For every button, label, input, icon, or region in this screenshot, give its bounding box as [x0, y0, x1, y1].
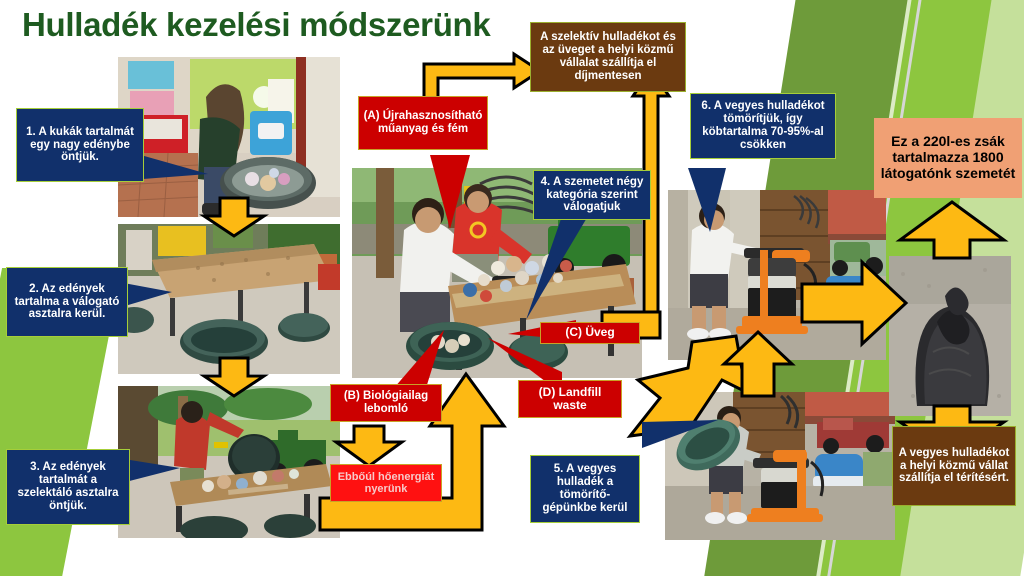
- callout-step-2[interactable]: 2. Az edények tartalma a válogató asztal…: [6, 267, 128, 337]
- pointer-step6-to-photo: [686, 168, 746, 234]
- callout-step-4[interactable]: 4. A szemetet négy kategória szerint vál…: [533, 170, 651, 220]
- callout-category-d-text: (D) Landfill waste: [523, 386, 617, 413]
- pointer-step4-to-photo: [524, 216, 590, 322]
- callout-step-3-text: 3. Az edények tartalmát a szelektáló asz…: [12, 461, 124, 513]
- callout-step-1-text: 1. A kukák tartalmát egy nagy edénybe ön…: [22, 126, 138, 165]
- callout-step-5-text: 5. A vegyes hulladék a tömörítő-gépünkbe…: [535, 463, 635, 515]
- slide-canvas: Hulladék kezelési módszerünk: [0, 0, 1024, 576]
- arrow-down-step1-to-step2: [198, 196, 270, 238]
- callout-bag-capacity-text: Ez a 220l-es zsák tartalmazza 1800 látog…: [879, 134, 1017, 181]
- pointer-a-to-photo: [430, 155, 490, 231]
- callout-mixed-transport[interactable]: A vegyes hulladékot a helyi közmű vállat…: [892, 426, 1016, 506]
- callout-step-6-text: 6. A vegyes hulladékot tömörítjük, így k…: [696, 100, 830, 152]
- arrow-up-bag-to-capacity: [896, 200, 1008, 260]
- callout-step-5[interactable]: 5. A vegyes hulladék a tömörítő-gépünkbe…: [530, 455, 640, 523]
- photo-woman-emptying-bin: [118, 57, 340, 217]
- callout-mixed-transport-text: A vegyes hulladékot a helyi közmű vállat…: [898, 447, 1010, 486]
- callout-category-b-text: (B) Biológiailag lebomló: [335, 390, 437, 416]
- callout-heat-energy-text: Ebbőúl hőenergiát nyerünk: [335, 471, 437, 496]
- callout-step-1[interactable]: 1. A kukák tartalmát egy nagy edénybe ön…: [16, 108, 144, 182]
- callout-category-d[interactable]: (D) Landfill waste: [518, 380, 622, 418]
- callout-selective-transport-text: A szelektív hulladékot és az üveget a he…: [536, 31, 680, 83]
- callout-heat-energy[interactable]: Ebbőúl hőenergiát nyerünk: [330, 464, 442, 502]
- callout-category-a-text: (A) Újrahasznosítható műanyag és fém: [363, 110, 483, 136]
- pointer-b-to-photo: [392, 330, 452, 390]
- callout-bag-capacity[interactable]: Ez a 220l-es zsák tartalmazza 1800 látog…: [874, 118, 1022, 198]
- arrow-up-to-compactor: [720, 330, 796, 398]
- callout-step-2-text: 2. Az edények tartalma a válogató asztal…: [12, 283, 122, 322]
- callout-step-6[interactable]: 6. A vegyes hulladékot tömörítjük, így k…: [690, 93, 836, 159]
- callout-category-c[interactable]: (C) Üveg: [540, 322, 640, 344]
- callout-category-c-text: (C) Üveg: [565, 326, 614, 339]
- callout-category-a[interactable]: (A) Újrahasznosítható műanyag és fém: [358, 96, 488, 150]
- callout-category-b[interactable]: (B) Biológiailag lebomló: [330, 384, 442, 422]
- callout-selective-transport[interactable]: A szelektív hulladékot és az üveget a he…: [530, 22, 686, 92]
- callout-step-4-text: 4. A szemetet négy kategória szerint vál…: [538, 176, 646, 215]
- arrow-right-to-bag: [800, 258, 910, 348]
- callout-step-3[interactable]: 3. Az edények tartalmát a szelektáló asz…: [6, 449, 130, 525]
- arrow-down-step2-to-step3: [198, 356, 270, 398]
- page-title: Hulladék kezelési módszerünk: [22, 6, 490, 44]
- pointer-step5-to-photo: [640, 418, 720, 462]
